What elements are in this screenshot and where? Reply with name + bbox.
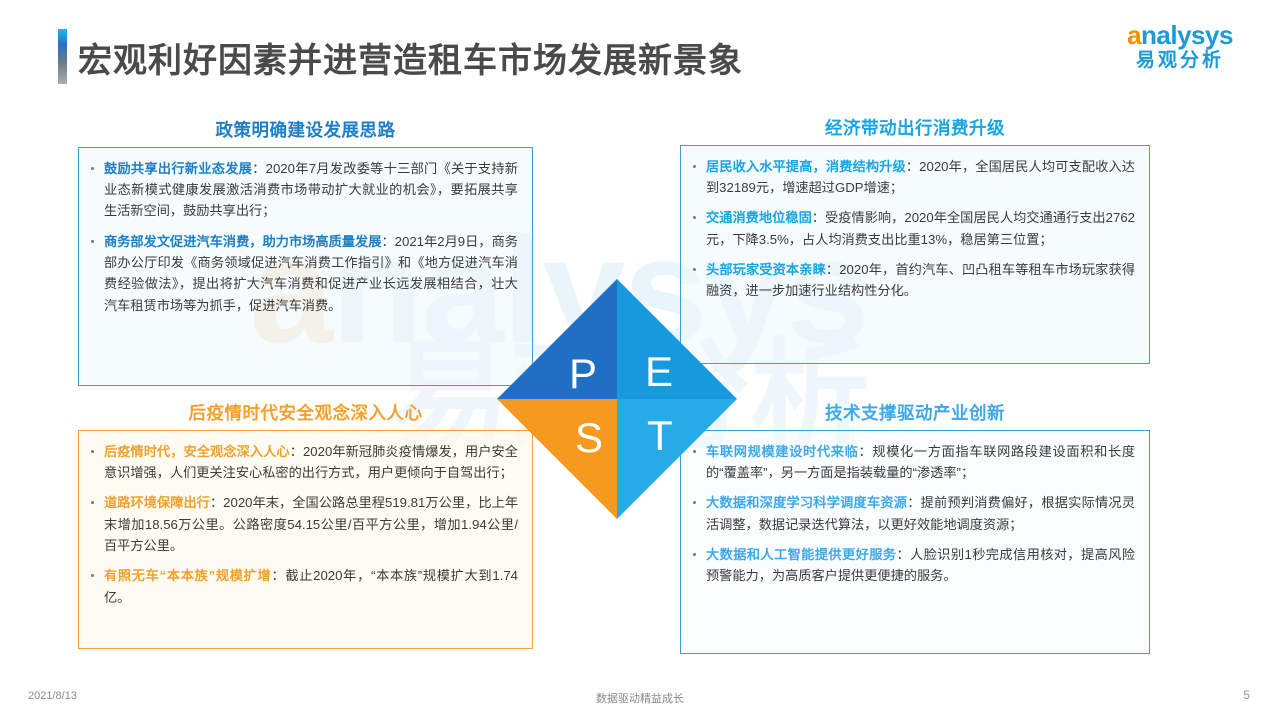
quadrant-economy-list: 居民收入水平提高，消费结构升级：2020年，全国居民人均可支配收入达到32189… [691, 156, 1135, 302]
list-item: 车联网规模建设时代来临：规模化一方面指车联网路段建设面积和长度的“覆盖率”，另一… [691, 441, 1135, 484]
pest-quadrant-e [617, 279, 737, 399]
quadrant-policy-title: 政策明确建设发展思路 [78, 122, 533, 140]
pest-diamond-shape [497, 279, 737, 519]
quadrant-social-list: 后疫情时代，安全观念深入人心：2020年新冠肺炎疫情爆发，用户安全意识增强，人们… [89, 441, 518, 609]
quadrant-policy: 政策明确建设发展思路 鼓励共享出行新业态发展：2020年7月发改委等十三部门《关… [78, 122, 533, 387]
footer-date: 2021/8/13 [28, 690, 77, 702]
list-item: 大数据和深度学习科学调度车资源：提前预判消费偏好，根据实际情况灵活调整，数据记录… [691, 492, 1135, 535]
quadrant-technology: 技术支撑驱动产业创新 车联网规模建设时代来临：规模化一方面指车联网路段建设面积和… [680, 405, 1150, 655]
logo-a-glyph: a [1127, 20, 1141, 50]
bullet-lead: 头部玩家受资本亲睐 [706, 262, 826, 277]
quadrant-technology-list: 车联网规模建设时代来临：规模化一方面指车联网路段建设面积和长度的“覆盖率”，另一… [691, 441, 1135, 587]
list-item: 头部玩家受资本亲睐：2020年，首约汽车、凹凸租车等租车市场玩家获得融资，进一步… [691, 259, 1135, 302]
bullet-lead: 鼓励共享出行新业态发展 [104, 161, 252, 176]
logo-wordmark-text: nalysys [1141, 20, 1233, 50]
bullet-lead: 大数据和人工智能提供更好服务 [706, 547, 896, 562]
logo-wordmark: analysys [1100, 22, 1260, 48]
quadrant-social: 后疫情时代安全观念深入人心 后疫情时代，安全观念深入人心：2020年新冠肺炎疫情… [78, 405, 533, 650]
pest-letter-t: T [647, 415, 673, 457]
list-item: 道路环境保障出行：2020年末，全国公路总里程519.81万公里，比上年末增加1… [89, 492, 518, 556]
bullet-lead: 居民收入水平提高，消费结构升级 [706, 159, 906, 174]
quadrant-economy-title: 经济带动出行消费升级 [680, 120, 1150, 138]
bullet-lead: 道路环境保障出行 [104, 495, 210, 510]
quadrant-technology-body: 车联网规模建设时代来临：规模化一方面指车联网路段建设面积和长度的“覆盖率”，另一… [680, 430, 1150, 654]
quadrant-economy: 经济带动出行消费升级 居民收入水平提高，消费结构升级：2020年，全国居民人均可… [680, 120, 1150, 365]
list-item: 鼓励共享出行新业态发展：2020年7月发改委等十三部门《关于支持新业态新模式健康… [89, 158, 518, 222]
quadrant-economy-body: 居民收入水平提高，消费结构升级：2020年，全国居民人均可支配收入达到32189… [680, 145, 1150, 364]
quadrant-social-body: 后疫情时代，安全观念深入人心：2020年新冠肺炎疫情爆发，用户安全意识增强，人们… [78, 430, 533, 649]
list-item: 大数据和人工智能提供更好服务：人脸识别1秒完成信用核对，提高风险预警能力，为高质… [691, 544, 1135, 587]
slide-footer: 2021/8/13 数据驱动精益成长 5 [0, 680, 1280, 720]
analysys-logo: analysys 易观分析 [1100, 22, 1260, 70]
bullet-lead: 商务部发文促进汽车消费，助力市场高质量发展 [104, 234, 381, 249]
pest-letter-e: E [645, 351, 673, 393]
list-item: 交通消费地位稳固：受疫情影响，2020年全国居民人均交通通行支出2762元，下降… [691, 207, 1135, 250]
bullet-lead: 交通消费地位稳固 [706, 210, 812, 225]
footer-page-number: 5 [1243, 688, 1250, 702]
list-item: 商务部发文促进汽车消费，助力市场高质量发展：2021年2月9日，商务部办公厅印发… [89, 231, 518, 317]
pest-letter-s: S [575, 417, 603, 459]
bullet-lead: 后疫情时代，安全观念深入人心 [104, 444, 290, 459]
quadrant-policy-list: 鼓励共享出行新业态发展：2020年7月发改委等十三部门《关于支持新业态新模式健康… [89, 158, 518, 317]
pest-letter-p: P [569, 353, 597, 395]
logo-subtitle: 易观分析 [1100, 51, 1260, 70]
quadrant-policy-body: 鼓励共享出行新业态发展：2020年7月发改委等十三部门《关于支持新业态新模式健康… [78, 147, 533, 386]
quadrant-social-title: 后疫情时代安全观念深入人心 [78, 405, 533, 423]
list-item: 后疫情时代，安全观念深入人心：2020年新冠肺炎疫情爆发，用户安全意识增强，人们… [89, 441, 518, 484]
list-item: 有照无车“本本族”规模扩增：截止2020年，“本本族”规模扩大到1.74亿。 [89, 565, 518, 608]
list-item: 居民收入水平提高，消费结构升级：2020年，全国居民人均可支配收入达到32189… [691, 156, 1135, 199]
footer-tagline: 数据驱动精益成长 [596, 690, 684, 706]
slide-root: analysys 易观分析 宏观利好因素并进营造租车市场发展新景象 analys… [0, 0, 1280, 720]
pest-quadrant-t [617, 399, 737, 519]
pest-diamond: P E S T [497, 279, 737, 519]
quadrant-technology-title: 技术支撑驱动产业创新 [680, 405, 1150, 423]
pest-quadrant-p [497, 279, 617, 399]
title-accent-bar [58, 29, 67, 84]
page-title: 宏观利好因素并进营造租车市场发展新景象 [78, 33, 743, 82]
bullet-lead: 有照无车“本本族”规模扩增 [104, 568, 271, 583]
